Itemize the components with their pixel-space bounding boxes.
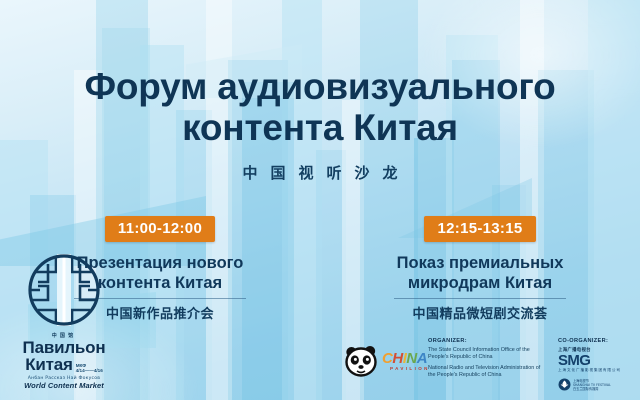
smg-logo-chinese-bottom: 上海文化广播影视集团有限公司	[558, 368, 630, 373]
stvf-line-3: 白玉兰国际传媒周	[573, 387, 611, 391]
co-organizer-block: CO-ORGANIZER: 上海广播电视台 SMG 上海文化广播影视集团有限公司…	[558, 338, 630, 391]
magnolia-icon	[558, 378, 571, 391]
organizer-heading: ORGANIZER:	[428, 338, 546, 344]
china-pavilion-logo: CHINA PAVILION	[344, 344, 430, 378]
lattice-window-icon	[26, 252, 102, 328]
title-line-2: контента Китая	[0, 107, 640, 148]
smg-logo-wordmark: SMG	[558, 353, 630, 368]
pavilion-logo-dates-line-2: 4/14——4/16	[76, 368, 103, 373]
poster-canvas: Форум аудиовизуального контента Китая 中国…	[0, 0, 640, 400]
shanghai-tv-festival-logo: 上海电视节 SHANGHAI TV FESTIVAL 白玉兰国际传媒周	[558, 378, 630, 391]
china-pavilion-wordmark: CHINA	[382, 351, 430, 366]
pavilion-logo-name-line-2: Китая	[25, 356, 73, 373]
session-title-chinese: 中国精品微短剧交流荟	[334, 303, 626, 322]
session-time-badge: 11:00-12:00	[105, 216, 215, 242]
poster-title-block: Форум аудиовизуального контента Китая 中国…	[0, 66, 640, 183]
panda-icon	[344, 344, 380, 378]
pavilion-logo-sub-en: World Content Market	[8, 381, 120, 390]
co-organizer-heading: CO-ORGANIZER:	[558, 338, 630, 344]
title-subtitle-chinese: 中国视听沙龙	[0, 162, 640, 183]
china-pavilion-subtext: PAVILION	[390, 367, 430, 372]
organizer-entry: The State Council Information Office of …	[428, 347, 546, 362]
pavilion-logo-name-line-1: Павильон	[8, 339, 120, 356]
session-item: 12:15-13:15 Показ премиальных микродрам …	[320, 216, 640, 322]
organizer-section: ORGANIZER: The State Council Information…	[428, 338, 630, 391]
session-title-line-2: микродрам Китая	[334, 273, 626, 293]
organizer-entry: National Radio and Television Administra…	[428, 365, 546, 380]
pavilion-logo: 中国馆 Павильон Китая МКФ 4/14——4/16 Анбан …	[8, 252, 120, 390]
organizer-block: ORGANIZER: The State Council Information…	[428, 338, 546, 391]
session-title-line-1: Показ премиальных	[334, 253, 626, 273]
session-time-badge: 12:15-13:15	[424, 216, 535, 242]
session-divider	[394, 298, 566, 299]
stvf-line-2: SHANGHAI TV FESTIVAL	[573, 383, 611, 387]
title-line-1: Форум аудиовизуального	[0, 66, 640, 107]
